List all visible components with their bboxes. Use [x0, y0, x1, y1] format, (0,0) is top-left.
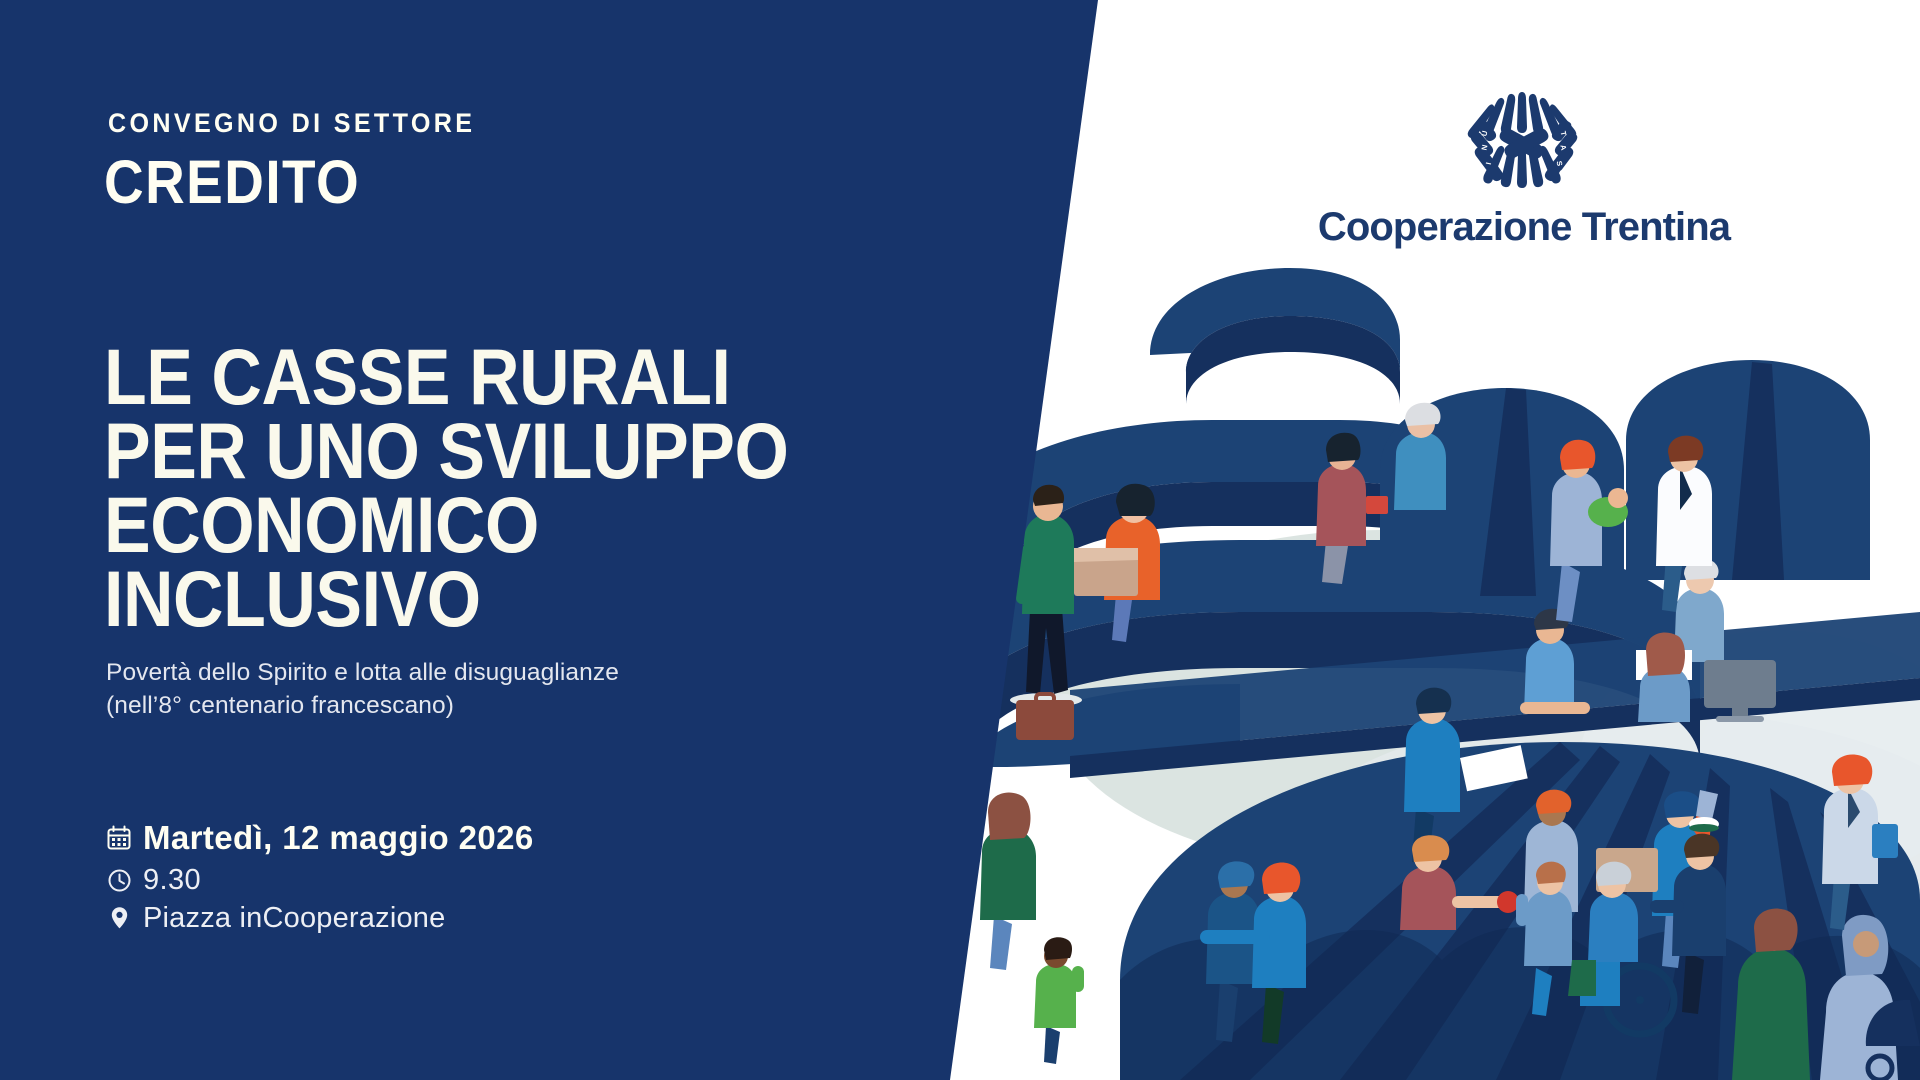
event-date: Martedì, 12 maggio 2026 — [143, 818, 534, 858]
event-time: 9.30 — [143, 862, 201, 898]
subtitle: Povertà dello Spirito e lotta alle disug… — [106, 657, 619, 723]
event-poster: CONVEGNO DI SETTORE CREDITO LE CASSE RUR… — [0, 0, 1920, 1080]
cooperazione-trentina-logo: U N I T A S Cooperazione Trentina — [1314, 82, 1734, 247]
detail-row-date: Martedì, 12 maggio 2026 — [104, 818, 534, 858]
headline-line-2: PER UNO SVILUPPO — [104, 414, 788, 488]
clock-icon — [104, 865, 134, 895]
unitas-sheaf-hands-icon: U N I T A S — [1314, 82, 1734, 199]
subtitle-line-1: Povertà dello Spirito e lotta alle disug… — [106, 657, 619, 690]
detail-row-place: Piazza inCooperazione — [104, 900, 534, 936]
main-headline: LE CASSE RURALI PER UNO SVILUPPO ECONOMI… — [104, 340, 788, 635]
calendar-icon — [104, 823, 134, 853]
event-details: Martedì, 12 maggio 2026 9.30 — [104, 818, 534, 942]
eyebrow-label: CONVEGNO DI SETTORE — [108, 110, 475, 137]
logo-wordmark: Cooperazione Trentina — [1314, 207, 1734, 247]
headline-line-4: INCLUSIVO — [104, 562, 788, 636]
subtitle-line-2: (nell’8° centenario francescano) — [106, 690, 619, 723]
detail-row-time: 9.30 — [104, 862, 534, 898]
location-pin-icon — [104, 903, 134, 933]
event-place: Piazza inCooperazione — [143, 900, 445, 936]
poster-text-column: CONVEGNO DI SETTORE CREDITO LE CASSE RUR… — [0, 0, 950, 1080]
headline-line-1: LE CASSE RURALI — [104, 340, 788, 414]
headline-line-3: ECONOMICO — [104, 488, 788, 562]
sector-title: CREDITO — [104, 152, 360, 213]
